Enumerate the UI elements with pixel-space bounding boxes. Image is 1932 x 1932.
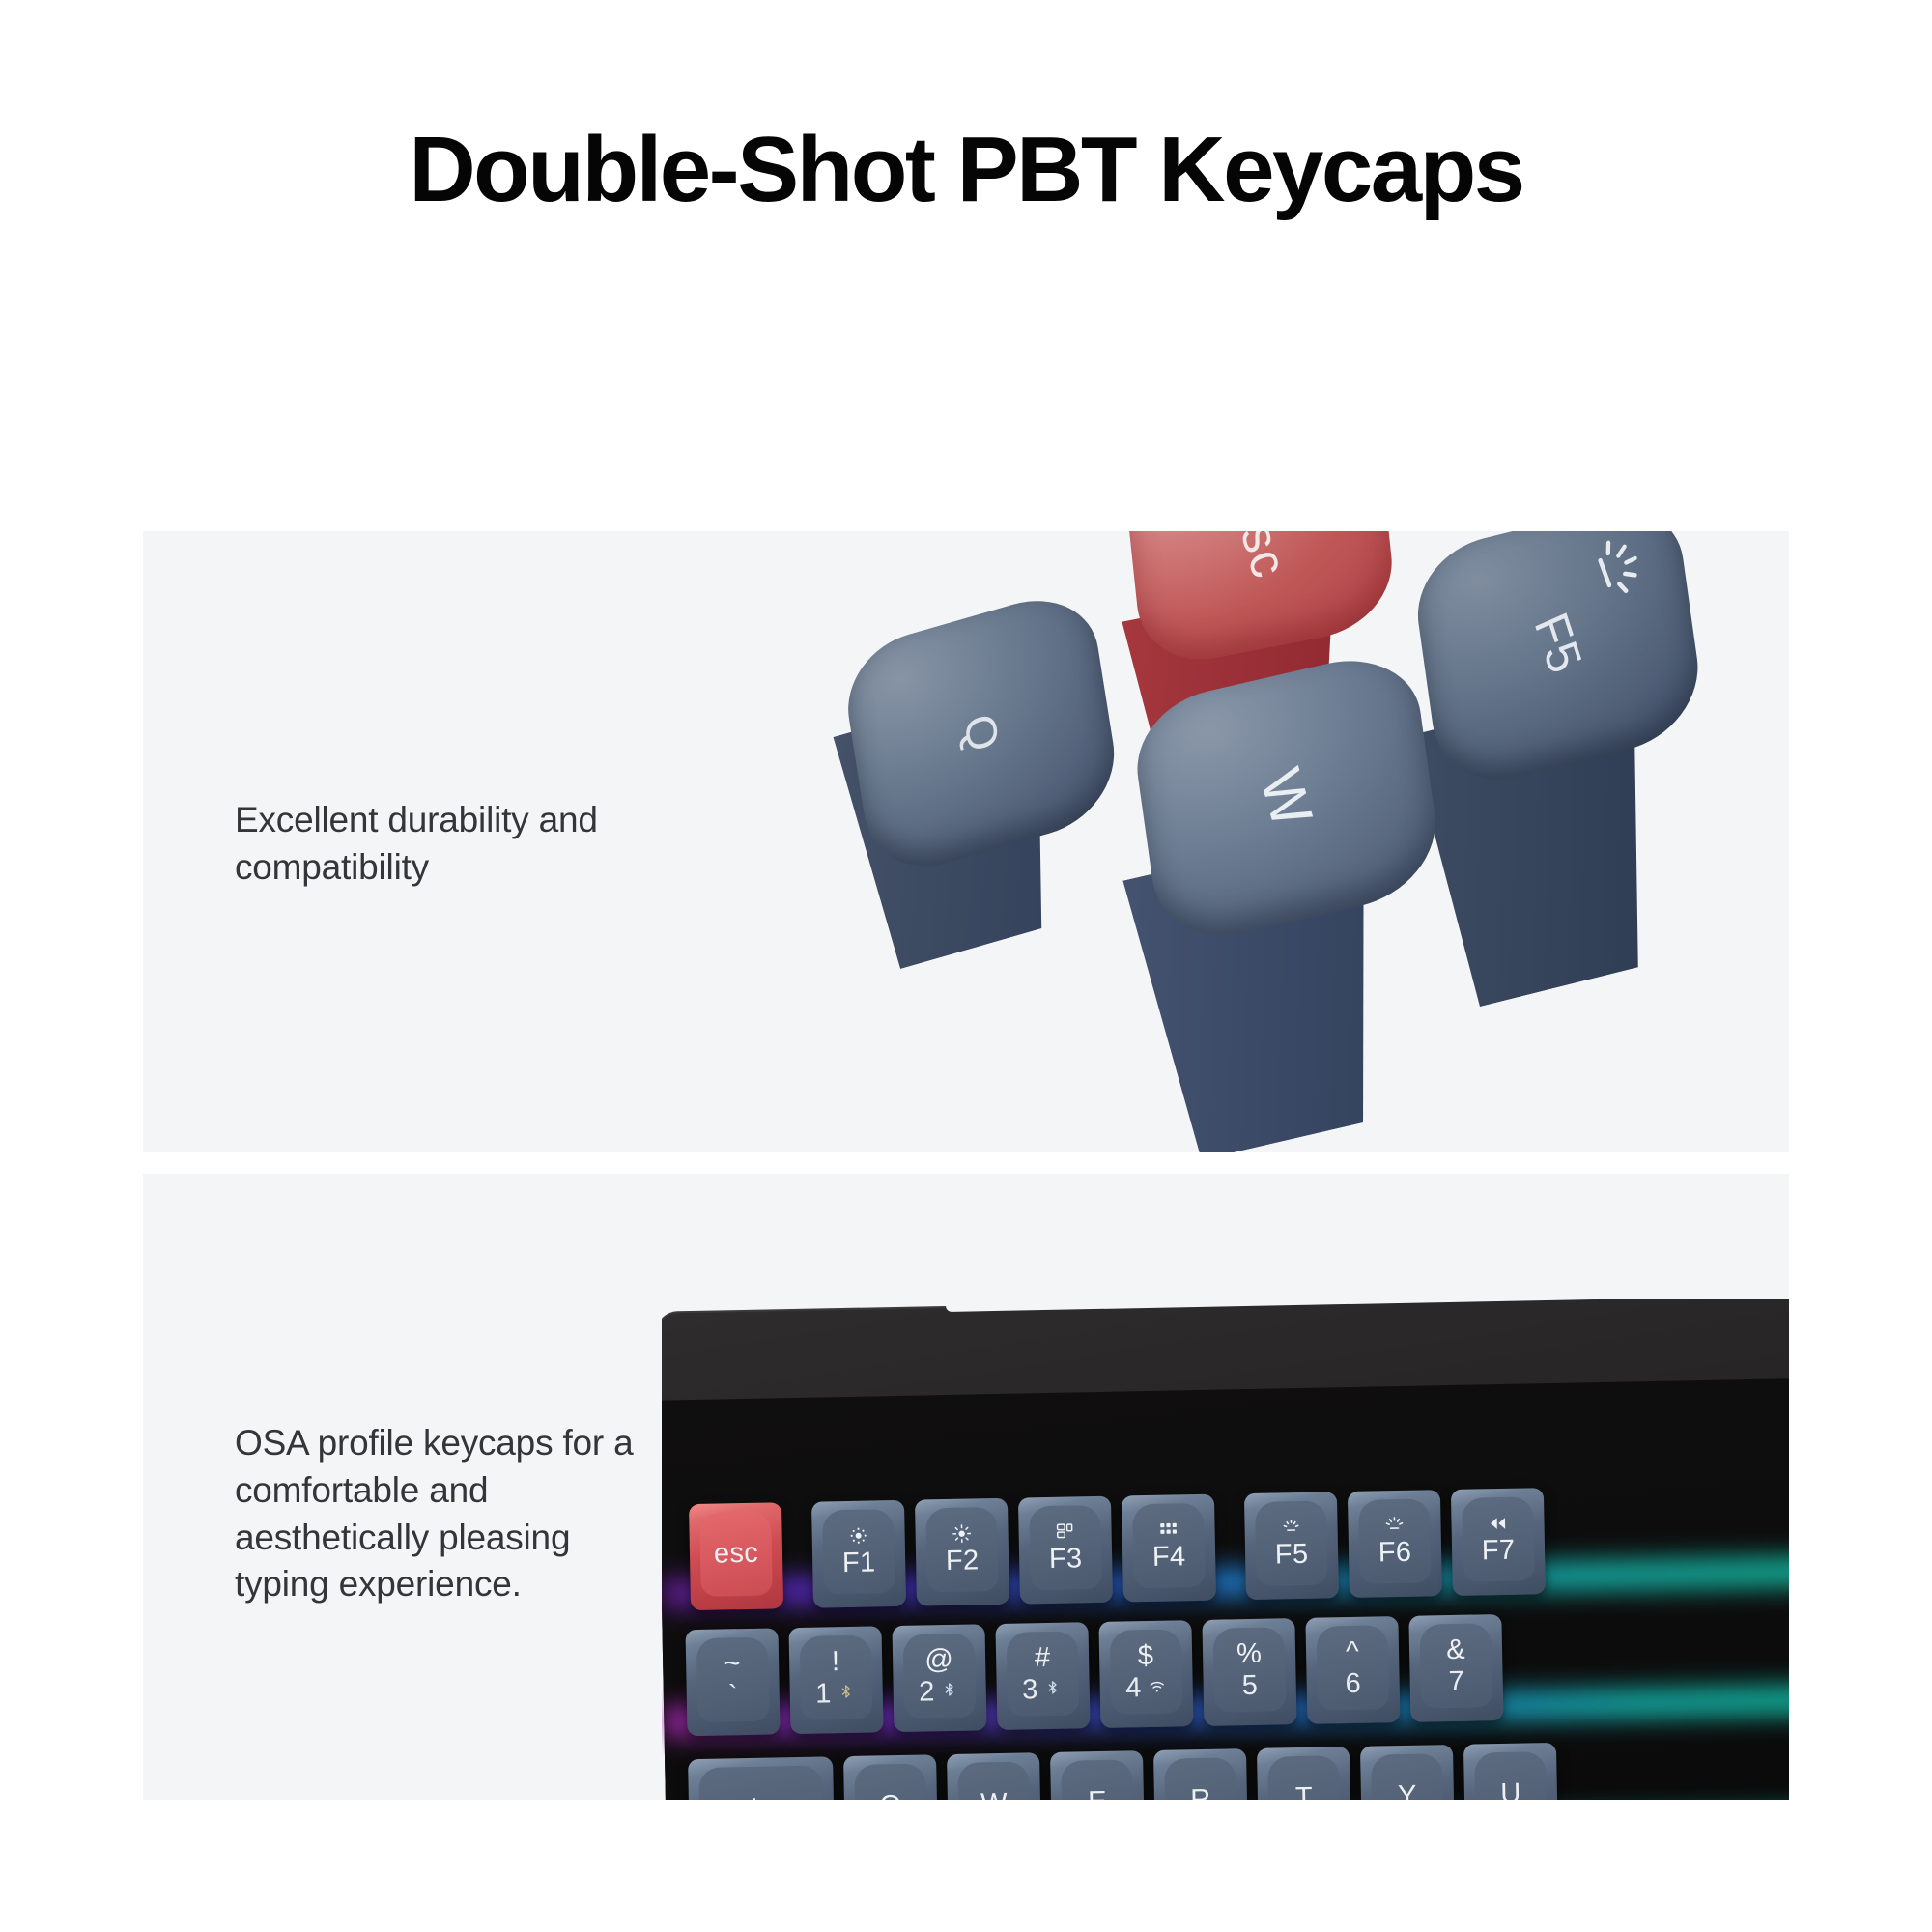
- key-f6[interactable]: F6: [1348, 1490, 1442, 1598]
- keyboard-plate: esc: [662, 1376, 1789, 1800]
- brightness-up-icon: [952, 1524, 971, 1544]
- feature-panel-durability: Excellent durability and compatibility Q…: [143, 531, 1789, 1152]
- keycap-f5: F5: [1409, 531, 1707, 796]
- key-label: F4: [1152, 1543, 1186, 1572]
- keyboard-top-notch: [946, 1299, 1680, 1312]
- key-sublabel: 3: [1022, 1676, 1038, 1704]
- key-sublabel: `: [728, 1682, 738, 1710]
- key-f3[interactable]: F3: [1018, 1496, 1113, 1605]
- key-label: F2: [946, 1547, 980, 1576]
- keycap-face: F1: [822, 1509, 895, 1594]
- keycap-face: $ 4: [1110, 1629, 1183, 1714]
- keycap-legend-w: W: [1247, 759, 1325, 837]
- key-f2[interactable]: F2: [915, 1498, 1009, 1606]
- key-label: T: [1295, 1784, 1314, 1800]
- key-3[interactable]: # 3: [995, 1622, 1090, 1730]
- tab-arrows-icon: [774, 1799, 793, 1800]
- key-label: U: [1500, 1780, 1521, 1800]
- key-5[interactable]: % 5: [1202, 1618, 1296, 1726]
- key-y[interactable]: Y: [1360, 1745, 1455, 1800]
- launchpad-grid-icon: [1158, 1520, 1178, 1539]
- key-u[interactable]: U: [1463, 1743, 1558, 1800]
- key-sublabel: 4: [1125, 1674, 1142, 1702]
- keycap-face: F6: [1358, 1498, 1432, 1583]
- key-label: ^: [1346, 1637, 1359, 1665]
- keycap-face: R: [1164, 1757, 1237, 1800]
- key-label: &: [1446, 1635, 1465, 1663]
- keycap-face: & 7: [1420, 1623, 1493, 1708]
- bluetooth-icon: [838, 1684, 857, 1703]
- key-label: R: [1190, 1786, 1211, 1800]
- key-sublabel: 2: [919, 1678, 935, 1706]
- keycap-face: W: [957, 1761, 1031, 1800]
- keyboard-row-function: esc: [689, 1488, 1556, 1610]
- keycap-face: F4: [1132, 1503, 1206, 1588]
- bluetooth-icon: [1044, 1680, 1064, 1699]
- key-label: Y: [1398, 1782, 1417, 1800]
- key-sublabel: 6: [1345, 1669, 1361, 1697]
- key-label: W: [980, 1790, 1008, 1800]
- keycap-face: U: [1474, 1751, 1548, 1800]
- backlight-up-icon: [1583, 531, 1651, 608]
- keycap-hero-render: Q esc F5: [823, 531, 1789, 1151]
- key-f5[interactable]: F5: [1244, 1492, 1339, 1600]
- keycap-face: Y: [1371, 1753, 1444, 1800]
- key-4[interactable]: $ 4: [1098, 1620, 1193, 1728]
- keycap-legend-f5: F5: [1523, 605, 1594, 682]
- panel-caption-osa-profile: OSA profile keycaps for a comfortable an…: [235, 1420, 650, 1608]
- key-q[interactable]: Q: [843, 1754, 938, 1800]
- keycap-face: % 5: [1213, 1627, 1287, 1712]
- keycap-face: F7: [1462, 1496, 1535, 1581]
- keycap-top-f5: F5: [1409, 531, 1707, 796]
- keycap-face: ! 1: [800, 1635, 873, 1720]
- key-label: F6: [1378, 1539, 1412, 1568]
- key-label: F7: [1482, 1537, 1516, 1566]
- key-sublabel: 7: [1448, 1667, 1464, 1695]
- key-backtick[interactable]: ~ `: [686, 1628, 781, 1736]
- key-label: E: [1088, 1788, 1107, 1800]
- keyboard-bezel: esc: [662, 1299, 1789, 1800]
- key-t[interactable]: T: [1257, 1747, 1351, 1800]
- brightness-down-icon: [848, 1526, 867, 1546]
- key-2[interactable]: @ 2: [892, 1624, 986, 1732]
- key-label: Q: [879, 1792, 901, 1800]
- keycap-face: Q: [854, 1763, 927, 1800]
- panel-caption-durability: Excellent durability and compatibility: [235, 797, 650, 892]
- backlight-up-icon: [1384, 1516, 1404, 1535]
- rewind-icon: [1488, 1514, 1507, 1533]
- key-tab[interactable]: tab: [688, 1756, 835, 1800]
- key-label: ~: [724, 1650, 741, 1678]
- key-sublabel: 5: [1241, 1671, 1258, 1699]
- keycap-top-q: Q: [838, 583, 1123, 884]
- keycap-legend-q: Q: [953, 708, 1009, 757]
- key-label: F3: [1049, 1545, 1083, 1574]
- wifi-icon: [1148, 1678, 1167, 1697]
- keycap-face: F3: [1029, 1505, 1102, 1590]
- keycap-face: tab: [698, 1766, 824, 1800]
- key-f7[interactable]: F7: [1451, 1488, 1546, 1596]
- keycap-face: F2: [925, 1507, 999, 1592]
- key-e[interactable]: E: [1050, 1750, 1145, 1800]
- bluetooth-icon: [941, 1682, 960, 1701]
- key-label: @: [924, 1645, 953, 1674]
- key-6[interactable]: ^ 6: [1305, 1616, 1400, 1724]
- keycap-face: T: [1267, 1755, 1341, 1800]
- keycap-face: esc: [699, 1511, 773, 1596]
- key-sublabel: 1: [815, 1680, 832, 1708]
- key-label: esc: [714, 1540, 759, 1569]
- key-1[interactable]: ! 1: [788, 1626, 883, 1734]
- key-label: %: [1236, 1639, 1263, 1667]
- keycap-face: @ 2: [903, 1633, 977, 1718]
- key-label: $: [1138, 1641, 1154, 1669]
- keycap-face: F5: [1255, 1500, 1328, 1585]
- keycap-face: # 3: [1007, 1631, 1080, 1716]
- keyboard-row-number: ~ ` ! 1: [686, 1614, 1515, 1736]
- key-w[interactable]: W: [947, 1752, 1041, 1800]
- key-f4[interactable]: F4: [1122, 1494, 1216, 1603]
- mission-control-icon: [1055, 1521, 1074, 1541]
- key-label: F5: [1275, 1541, 1309, 1570]
- key-label: #: [1035, 1643, 1051, 1671]
- keycap-face: ^ 6: [1317, 1625, 1390, 1710]
- key-label: tab: [729, 1796, 767, 1800]
- keycap-legend-esc: esc: [1221, 531, 1298, 586]
- keyboard-photo: esc: [662, 1299, 1789, 1800]
- feature-panel-osa-profile: OSA profile keycaps for a comfortable an…: [143, 1174, 1789, 1800]
- key-esc[interactable]: esc: [689, 1502, 783, 1610]
- page-title: Double-Shot PBT Keycaps: [0, 122, 1932, 219]
- keycap-q: Q: [838, 583, 1123, 884]
- key-r[interactable]: R: [1153, 1748, 1248, 1800]
- keycap-face: ~ `: [696, 1637, 770, 1722]
- key-f1[interactable]: F1: [811, 1500, 906, 1608]
- key-7[interactable]: & 7: [1408, 1614, 1503, 1722]
- keyboard-row-qwerty: tab Q: [688, 1743, 1569, 1800]
- key-label: !: [832, 1648, 840, 1676]
- keycap-face: E: [1061, 1759, 1134, 1800]
- key-label: F1: [842, 1548, 876, 1577]
- backlight-down-icon: [1281, 1518, 1300, 1537]
